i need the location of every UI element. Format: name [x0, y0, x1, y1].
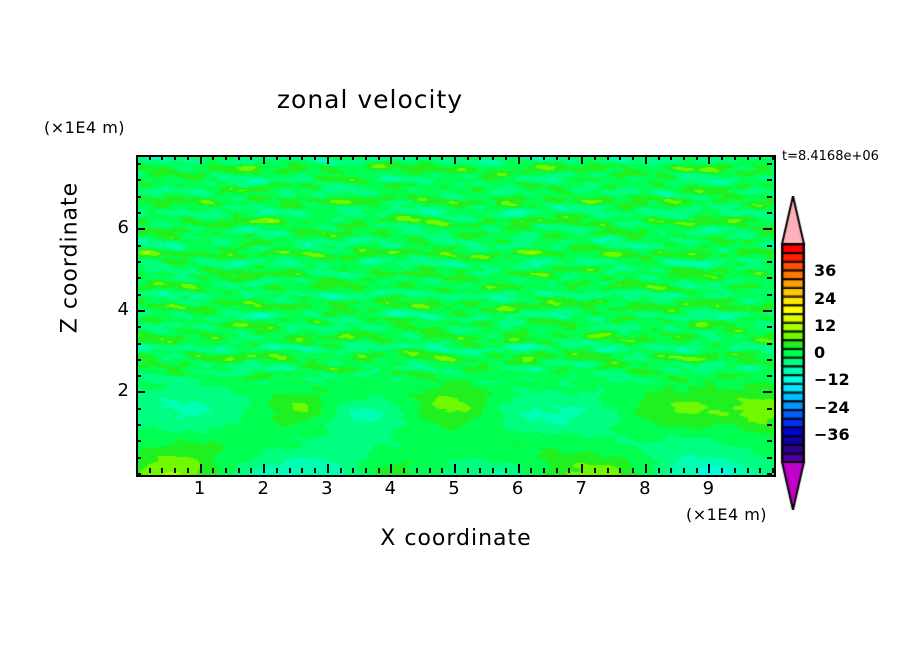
xaxis-minor-tick — [161, 468, 163, 473]
xaxis-minor-tick — [543, 468, 545, 473]
xaxis-minor-tick-top — [250, 155, 252, 160]
xaxis-minor-tick — [149, 468, 151, 473]
xaxis-minor-tick-top — [530, 155, 532, 160]
xaxis-minor-tick-top — [289, 155, 291, 160]
xaxis-minor-tick-top — [276, 155, 278, 160]
xaxis-minor-tick-top — [416, 155, 418, 160]
xaxis-minor-tick — [403, 468, 405, 473]
yaxis-minor-tick-right — [767, 473, 772, 475]
yaxis-minor-tick — [136, 326, 141, 328]
xaxis-ticklabel: 1 — [180, 478, 220, 499]
xaxis-minor-tick-top — [301, 155, 303, 160]
yaxis-minor-tick-right — [767, 440, 772, 442]
xaxis-minor-tick-top — [441, 155, 443, 160]
xaxis-minor-tick-top — [696, 155, 698, 160]
xaxis-minor-tick-top — [607, 155, 609, 160]
xaxis-major-tick-top — [454, 155, 456, 164]
xaxis-minor-tick — [530, 468, 532, 473]
xaxis-minor-tick-top — [670, 155, 672, 160]
yaxis-minor-tick-right — [767, 408, 772, 410]
contour-plot-area[interactable] — [136, 155, 776, 477]
xaxis-major-tick — [200, 464, 202, 473]
yaxis-minor-tick-right — [767, 375, 772, 377]
yaxis-minor-tick — [136, 424, 141, 426]
yaxis-minor-tick — [136, 196, 141, 198]
yaxis-minor-tick — [136, 343, 141, 345]
xaxis-minor-tick — [658, 468, 660, 473]
xaxis-minor-tick — [340, 468, 342, 473]
time-annotation: t=8.4168e+06 — [782, 149, 879, 164]
xaxis-minor-tick — [568, 468, 570, 473]
xaxis-minor-tick-top — [619, 155, 621, 160]
xaxis-minor-tick-top — [161, 155, 163, 160]
xaxis-minor-tick — [429, 468, 431, 473]
xaxis-minor-tick — [734, 468, 736, 473]
yaxis-major-tick — [136, 310, 145, 312]
colorbar[interactable] — [778, 196, 808, 510]
yaxis-minor-tick — [136, 440, 141, 442]
xaxis-minor-tick-top — [314, 155, 316, 160]
xaxis-minor-tick — [772, 468, 774, 473]
yaxis-minor-tick-right — [767, 457, 772, 459]
xaxis-minor-tick — [365, 468, 367, 473]
xaxis-ticklabel: 8 — [625, 478, 665, 499]
xaxis-minor-tick-top — [721, 155, 723, 160]
colorbar-ticklabel: 36 — [814, 261, 836, 280]
xaxis-minor-tick-top — [658, 155, 660, 160]
xaxis-minor-tick-top — [212, 155, 214, 160]
xaxis-minor-tick-top — [429, 155, 431, 160]
yaxis-minor-tick-right — [767, 277, 772, 279]
yaxis-minor-tick-right — [767, 163, 772, 165]
xaxis-minor-tick — [594, 468, 596, 473]
yaxis-minor-tick — [136, 408, 141, 410]
yaxis-ticklabel: 2 — [89, 380, 129, 401]
xaxis-minor-tick-top — [136, 155, 138, 160]
yaxis-minor-tick-right — [767, 343, 772, 345]
xaxis-minor-tick-top — [225, 155, 227, 160]
xaxis-major-tick — [327, 464, 329, 473]
yaxis-major-tick-right — [763, 310, 772, 312]
yaxis-minor-tick-right — [767, 359, 772, 361]
colorbar-ticklabel: 24 — [814, 289, 836, 308]
xaxis-minor-tick — [174, 468, 176, 473]
xaxis-units-label: (×1E4 m) — [686, 505, 767, 524]
xaxis-minor-tick — [250, 468, 252, 473]
xaxis-minor-tick — [212, 468, 214, 473]
xaxis-minor-tick-top — [479, 155, 481, 160]
yaxis-ticklabel: 4 — [89, 299, 129, 320]
colorbar-ticklabel: −12 — [814, 370, 850, 389]
xaxis-minor-tick-top — [378, 155, 380, 160]
colorbar-ticklabel: −24 — [814, 398, 850, 417]
xaxis-minor-tick-top — [403, 155, 405, 160]
xaxis-minor-tick-top — [772, 155, 774, 160]
yaxis-minor-tick-right — [767, 261, 772, 263]
xaxis-minor-tick-top — [492, 155, 494, 160]
xaxis-major-tick — [581, 464, 583, 473]
xaxis-major-tick — [454, 464, 456, 473]
yaxis-title: Z coordinate — [58, 118, 83, 398]
xaxis-minor-tick-top — [734, 155, 736, 160]
xaxis-major-tick — [390, 464, 392, 473]
xaxis-minor-tick — [747, 468, 749, 473]
xaxis-minor-tick-top — [352, 155, 354, 160]
contour-field — [138, 157, 774, 475]
xaxis-minor-tick — [619, 468, 621, 473]
xaxis-minor-tick — [225, 468, 227, 473]
xaxis-minor-tick — [352, 468, 354, 473]
xaxis-minor-tick — [238, 468, 240, 473]
yaxis-minor-tick-right — [767, 245, 772, 247]
colorbar-ticklabel: 0 — [814, 343, 825, 362]
xaxis-ticklabel: 4 — [370, 478, 410, 499]
yaxis-minor-tick — [136, 261, 141, 263]
xaxis-major-tick-top — [390, 155, 392, 164]
xaxis-minor-tick-top — [594, 155, 596, 160]
xaxis-minor-tick — [314, 468, 316, 473]
colorbar-ticklabel: −36 — [814, 425, 850, 444]
xaxis-ticklabel: 7 — [561, 478, 601, 499]
xaxis-major-tick-top — [518, 155, 520, 164]
xaxis-minor-tick-top — [632, 155, 634, 160]
yaxis-minor-tick-right — [767, 294, 772, 296]
xaxis-ticklabel: 5 — [434, 478, 474, 499]
xaxis-minor-tick — [670, 468, 672, 473]
yaxis-major-tick-right — [763, 228, 772, 230]
xaxis-minor-tick — [492, 468, 494, 473]
yaxis-ticklabel: 6 — [89, 217, 129, 238]
yaxis-minor-tick — [136, 179, 141, 181]
xaxis-minor-tick-top — [683, 155, 685, 160]
xaxis-minor-tick — [467, 468, 469, 473]
yaxis-units-label: (×1E4 m) — [44, 118, 125, 137]
xaxis-minor-tick — [759, 468, 761, 473]
xaxis-minor-tick-top — [174, 155, 176, 160]
xaxis-major-tick — [518, 464, 520, 473]
yaxis-minor-tick — [136, 212, 141, 214]
xaxis-minor-tick — [416, 468, 418, 473]
xaxis-ticklabel: 2 — [243, 478, 283, 499]
xaxis-minor-tick — [289, 468, 291, 473]
xaxis-ticklabel: 3 — [307, 478, 347, 499]
colorbar-ticklabel: 12 — [814, 316, 836, 335]
xaxis-minor-tick-top — [543, 155, 545, 160]
xaxis-minor-tick — [696, 468, 698, 473]
xaxis-minor-tick-top — [238, 155, 240, 160]
yaxis-minor-tick-right — [767, 179, 772, 181]
yaxis-major-tick — [136, 391, 145, 393]
yaxis-major-tick-right — [763, 391, 772, 393]
xaxis-ticklabel: 6 — [498, 478, 538, 499]
yaxis-minor-tick-right — [767, 212, 772, 214]
page-title: zonal velocity — [0, 85, 740, 114]
xaxis-major-tick-top — [263, 155, 265, 164]
xaxis-major-tick — [708, 464, 710, 473]
yaxis-minor-tick — [136, 375, 141, 377]
xaxis-minor-tick — [556, 468, 558, 473]
yaxis-minor-tick-right — [767, 326, 772, 328]
xaxis-minor-tick — [607, 468, 609, 473]
xaxis-major-tick-top — [581, 155, 583, 164]
yaxis-minor-tick — [136, 163, 141, 165]
xaxis-minor-tick-top — [747, 155, 749, 160]
yaxis-minor-tick — [136, 473, 141, 475]
yaxis-minor-tick — [136, 359, 141, 361]
xaxis-ticklabel: 9 — [688, 478, 728, 499]
xaxis-major-tick — [263, 464, 265, 473]
yaxis-minor-tick — [136, 294, 141, 296]
xaxis-minor-tick-top — [467, 155, 469, 160]
yaxis-major-tick — [136, 228, 145, 230]
xaxis-minor-tick-top — [505, 155, 507, 160]
xaxis-minor-tick — [378, 468, 380, 473]
xaxis-minor-tick — [187, 468, 189, 473]
yaxis-minor-tick — [136, 245, 141, 247]
xaxis-major-tick-top — [200, 155, 202, 164]
xaxis-minor-tick — [441, 468, 443, 473]
xaxis-major-tick-top — [645, 155, 647, 164]
xaxis-minor-tick — [301, 468, 303, 473]
xaxis-minor-tick-top — [365, 155, 367, 160]
yaxis-minor-tick — [136, 457, 141, 459]
figure-root: zonal velocity (×1E4 m) (×1E4 m) Z coord… — [0, 0, 904, 654]
xaxis-minor-tick-top — [149, 155, 151, 160]
xaxis-major-tick — [645, 464, 647, 473]
xaxis-minor-tick — [505, 468, 507, 473]
xaxis-minor-tick-top — [340, 155, 342, 160]
yaxis-minor-tick-right — [767, 424, 772, 426]
xaxis-minor-tick — [479, 468, 481, 473]
yaxis-minor-tick — [136, 277, 141, 279]
xaxis-minor-tick — [721, 468, 723, 473]
xaxis-minor-tick-top — [556, 155, 558, 160]
xaxis-major-tick-top — [327, 155, 329, 164]
xaxis-minor-tick-top — [187, 155, 189, 160]
xaxis-minor-tick-top — [568, 155, 570, 160]
xaxis-major-tick-top — [708, 155, 710, 164]
yaxis-minor-tick-right — [767, 196, 772, 198]
xaxis-title: X coordinate — [286, 526, 626, 551]
xaxis-minor-tick-top — [759, 155, 761, 160]
xaxis-minor-tick — [683, 468, 685, 473]
xaxis-minor-tick — [632, 468, 634, 473]
xaxis-minor-tick — [276, 468, 278, 473]
